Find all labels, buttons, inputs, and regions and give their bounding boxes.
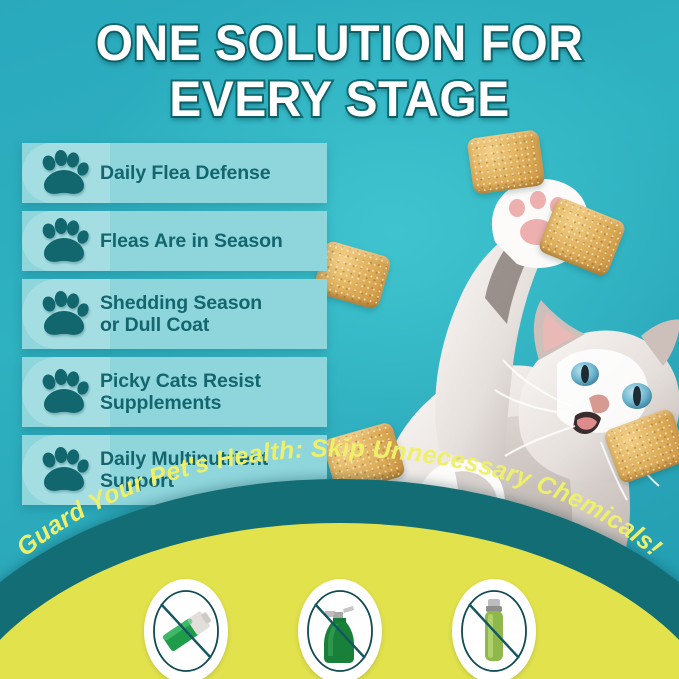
list-item[interactable]: Fleas Are in Season (22, 211, 327, 271)
no-chemicals-icon-row (0, 579, 679, 679)
list-item-label: Shedding Season or Dull Coat (100, 292, 262, 336)
promo-graphic: ONE SOLUTION FOR EVERY STAGE (0, 0, 679, 679)
headline-line-1: ONE SOLUTION FOR (14, 16, 666, 70)
paw-icon (36, 291, 92, 337)
feature-list: Daily Flea Defense Fleas Are in Season (22, 143, 327, 513)
headline-line-2: EVERY STAGE (14, 72, 666, 126)
no-ointment-tube-icon[interactable] (144, 579, 228, 679)
no-spray-bottle-icon[interactable] (298, 579, 382, 679)
page-title: ONE SOLUTION FOR EVERY STAGE (0, 16, 679, 126)
paw-icon (36, 218, 92, 264)
paw-icon (36, 447, 92, 493)
list-item-label: Daily Flea Defense (100, 162, 271, 184)
list-item[interactable]: Picky Cats Resist Supplements (22, 357, 327, 427)
list-item-label: Fleas Are in Season (100, 230, 283, 252)
paw-icon (36, 150, 92, 196)
list-item[interactable]: Daily Flea Defense (22, 143, 327, 203)
list-item-label: Picky Cats Resist Supplements (100, 370, 261, 414)
list-item[interactable]: Shedding Season or Dull Coat (22, 279, 327, 349)
no-aerosol-can-icon[interactable] (452, 579, 536, 679)
paw-icon (36, 369, 92, 415)
